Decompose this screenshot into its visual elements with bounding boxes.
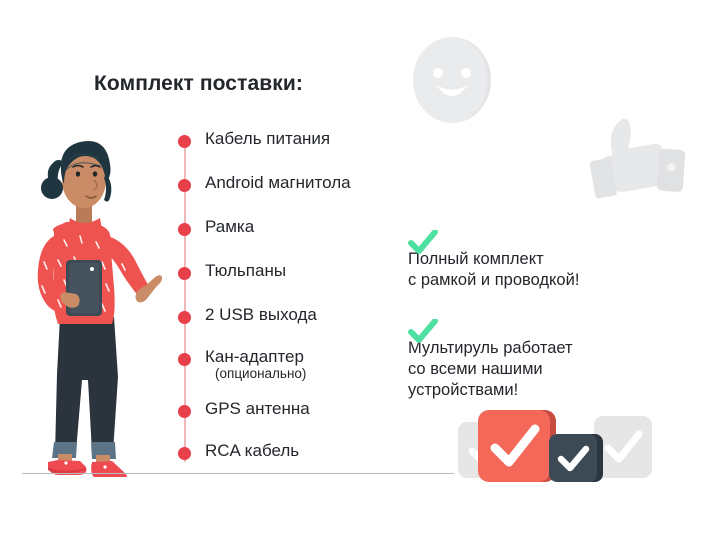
bullet-dot — [178, 405, 191, 418]
feature-line: Мультируль работает — [408, 338, 708, 359]
list-item-label: RCA кабель — [205, 440, 299, 462]
bullet-dot — [178, 353, 191, 366]
list-item-label: Кан-адаптер — [205, 346, 304, 368]
green-check-icon — [408, 319, 438, 350]
list-item-label: 2 USB выхода — [205, 304, 317, 326]
bullet-dot — [178, 223, 191, 236]
feature-text: Полный комплект с рамкой и проводкой! — [408, 249, 708, 291]
avito-watermark-text: Avito — [642, 500, 699, 526]
bullet-dot — [178, 135, 191, 148]
feature-item: Мультируль работает со всеми нашими устр… — [408, 317, 708, 401]
feature-text: Мультируль работает со всеми нашими устр… — [408, 338, 708, 401]
list-item-label: Тюльпаны — [205, 260, 286, 282]
thumbs-up-icon — [578, 112, 686, 217]
card-coral — [478, 410, 550, 482]
feature-line: с рамкой и проводкой! — [408, 270, 708, 291]
feature-highlight-list: Полный комплект с рамкой и проводкой! Му… — [408, 228, 708, 415]
list-item-label: Рамка — [205, 216, 254, 238]
feature-line: со всеми нашими — [408, 359, 708, 380]
ground-line — [22, 473, 454, 474]
list-item-label: Кабель питания — [205, 128, 330, 150]
bullet-dot — [178, 179, 191, 192]
promo-image-canvas: Кабель питания Android магнитола Рамка Т… — [0, 0, 720, 540]
bullet-dot — [178, 267, 191, 280]
feature-item: Полный комплект с рамкой и проводкой! — [408, 228, 708, 291]
feature-line: Полный комплект — [408, 249, 708, 270]
list-item-label: GPS антенна — [205, 398, 310, 420]
bullet-dot — [178, 311, 191, 324]
page-title: Комплект поставки: — [94, 72, 303, 96]
list-item-label: Android магнитола — [205, 172, 351, 194]
bullet-dot — [178, 447, 191, 460]
green-check-icon — [408, 230, 438, 261]
illustration-woman-pointing — [14, 112, 174, 482]
feature-line: устройствами! — [408, 380, 708, 401]
list-item-sublabel: (опционально) — [215, 366, 306, 381]
card-dark — [549, 434, 597, 482]
smiley-face-icon — [410, 35, 494, 130]
avito-watermark: Avito — [613, 497, 709, 532]
